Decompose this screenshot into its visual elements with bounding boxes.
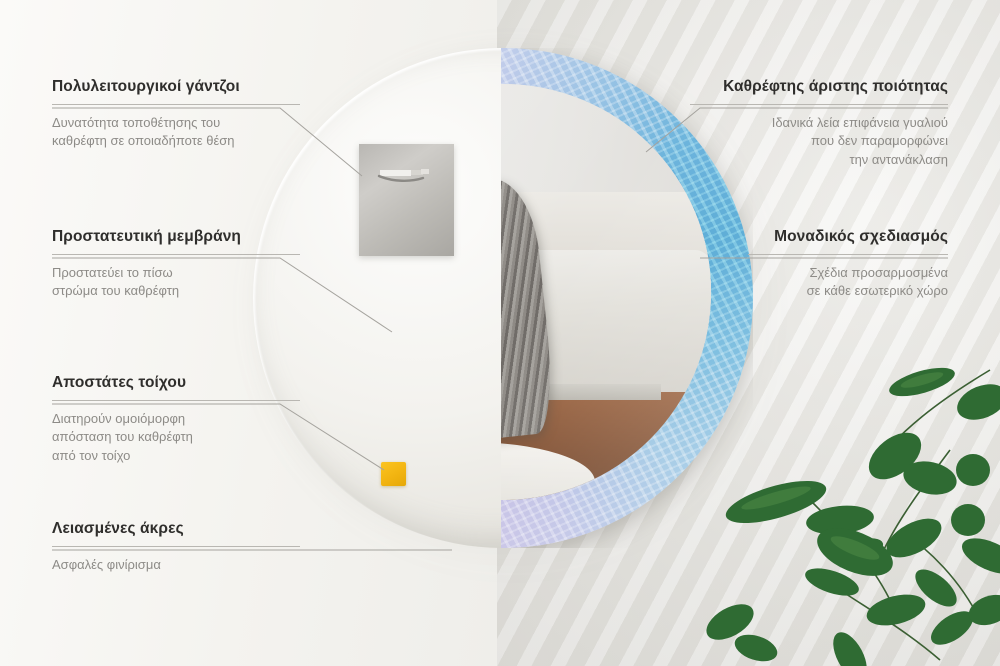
infographic-canvas: Πολυλειτουργικοί γάντζοι Δυνατότητα τοπο… xyxy=(0,0,1000,666)
callout-spacers-body: Διατηρούν ομοιόμορφη απόσταση του καθρέφ… xyxy=(52,410,300,467)
callout-membrane: Προστατευτική μεμβράνη Προστατεύει το πί… xyxy=(52,228,300,301)
callout-hooks-rule xyxy=(52,104,300,105)
callout-spacers-title: Αποστάτες τοίχου xyxy=(52,374,300,393)
callout-quality-mirror-rule xyxy=(690,104,948,105)
callout-membrane-title: Προστατευτική μεμβράνη xyxy=(52,228,300,247)
callout-unique-design-body: Σχέδια προσαρμοσμένα σε κάθε εσωτερικό χ… xyxy=(748,264,948,302)
callout-unique-design: Μοναδικός σχεδιασμός Σχέδια προσαρμοσμέν… xyxy=(748,228,948,301)
hook-icon xyxy=(377,166,435,188)
callout-hooks: Πολυλειτουργικοί γάντζοι Δυνατότητα τοπο… xyxy=(52,78,300,151)
callout-unique-design-rule xyxy=(748,254,948,255)
callout-spacers: Αποστάτες τοίχου Διατηρούν ομοιόμορφη απ… xyxy=(52,374,300,466)
callout-spacers-rule xyxy=(52,400,300,401)
callout-quality-mirror-body: Ιδανικά λεία επιφάνεια γυαλιού που δεν π… xyxy=(690,114,948,171)
callout-edges-rule xyxy=(52,546,300,547)
metal-hook-detail-swatch xyxy=(359,144,454,256)
callout-hooks-title: Πολυλειτουργικοί γάντζοι xyxy=(52,78,300,97)
callout-quality-mirror-title: Καθρέφτης άριστης ποιότητας xyxy=(690,78,948,97)
callout-edges-body: Ασφαλές φινίρισμα xyxy=(52,556,300,575)
callout-edges-title: Λειασμένες άκρες xyxy=(52,520,300,539)
callout-hooks-body: Δυνατότητα τοποθέτησης του καθρέφτη σε ο… xyxy=(52,114,300,152)
callout-quality-mirror: Καθρέφτης άριστης ποιότητας Ιδανικά λεία… xyxy=(690,78,948,170)
callout-membrane-rule xyxy=(52,254,300,255)
yellow-wall-spacer-chip xyxy=(381,462,406,486)
callout-edges: Λειασμένες άκρες Ασφαλές φινίρισμα xyxy=(52,520,300,574)
callout-unique-design-title: Μοναδικός σχεδιασμός xyxy=(748,228,948,247)
foliage-decoration xyxy=(690,360,1000,666)
callout-membrane-body: Προστατεύει το πίσω στρώμα του καθρέφτη xyxy=(52,264,300,302)
